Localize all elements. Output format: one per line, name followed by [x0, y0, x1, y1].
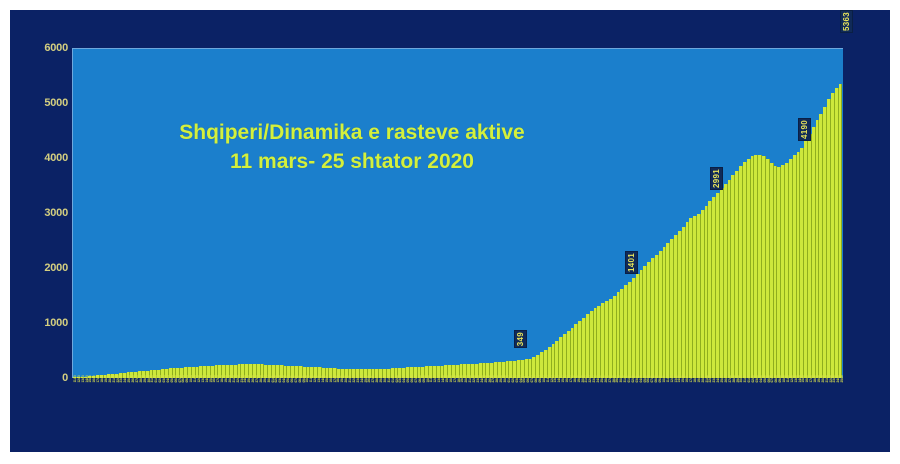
data-label: 5363: [840, 10, 853, 33]
x-axis-tick-label: 25.09: [841, 376, 844, 383]
data-label: 349: [514, 330, 527, 348]
data-label-value: 349: [516, 332, 525, 346]
bar-series: [73, 49, 843, 378]
y-axis-tick: 1000: [14, 318, 68, 328]
y-axis-tick: 6000: [14, 43, 68, 53]
y-axis: 0100020003000400050006000: [10, 48, 68, 378]
plot-area: [72, 48, 843, 378]
y-axis-tick: 5000: [14, 98, 68, 108]
chart-panel: 0100020003000400050006000 Shqiperi/Dinam…: [10, 10, 890, 452]
data-label-value: 2991: [712, 169, 721, 188]
data-label-value: 4190: [800, 120, 809, 139]
data-label: 4190: [798, 118, 811, 141]
y-axis-tick: 3000: [14, 208, 68, 218]
data-label-value: 1401: [627, 253, 636, 272]
x-axis-tick: 25.09: [839, 379, 843, 399]
x-axis: 11.0312.0313.0314.0315.0316.0317.0318.03…: [72, 379, 843, 399]
bar: [839, 84, 843, 378]
data-label-value: 5363: [842, 12, 851, 31]
chart-screenshot: 0100020003000400050006000 Shqiperi/Dinam…: [0, 0, 900, 464]
data-label: 1401: [625, 251, 638, 274]
y-axis-tick: 2000: [14, 263, 68, 273]
data-label: 2991: [710, 167, 723, 190]
y-axis-tick: 0: [14, 373, 68, 383]
y-axis-tick: 4000: [14, 153, 68, 163]
